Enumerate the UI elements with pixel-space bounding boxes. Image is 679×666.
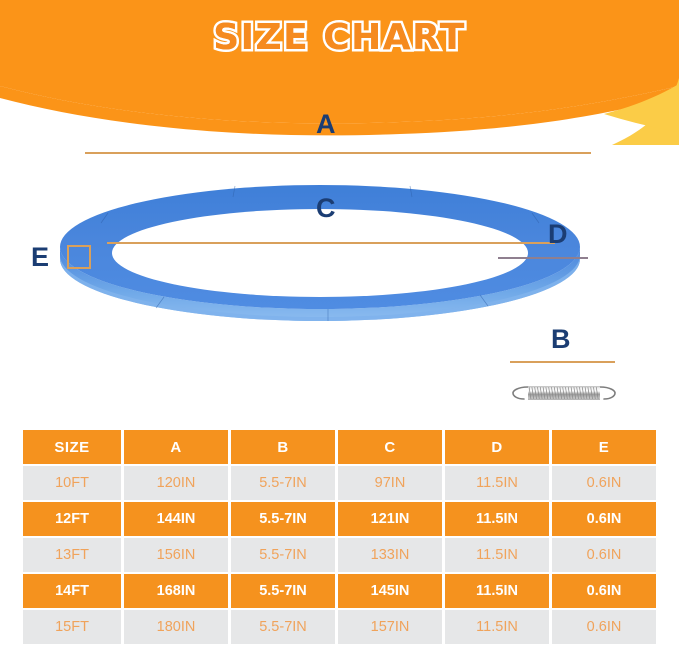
size-chart-table: SIZE A B C D E 10FT 120IN 5.5-7IN 97IN 1…	[20, 428, 659, 646]
cell-a: 144IN	[124, 502, 228, 536]
cell-d: 11.5IN	[445, 502, 549, 536]
cell-b: 5.5-7IN	[231, 466, 335, 500]
cell-d: 11.5IN	[445, 466, 549, 500]
spring-icon	[508, 378, 620, 408]
cell-d: 11.5IN	[445, 610, 549, 644]
cell-d: 11.5IN	[445, 574, 549, 608]
dimension-label-c: C	[316, 193, 336, 224]
dimension-bracket-e-stem	[67, 245, 69, 269]
table-header-c: C	[338, 430, 442, 464]
cell-e: 0.6IN	[552, 502, 656, 536]
cell-size: 12FT	[23, 502, 121, 536]
dimension-label-d: D	[548, 219, 568, 250]
cell-size: 13FT	[23, 538, 121, 572]
table-row: 14FT 168IN 5.5-7IN 145IN 11.5IN 0.6IN	[23, 574, 656, 608]
dimension-line-a	[85, 152, 591, 154]
cell-a: 168IN	[124, 574, 228, 608]
cell-e: 0.6IN	[552, 574, 656, 608]
table-header-a: A	[124, 430, 228, 464]
table-header-row: SIZE A B C D E	[23, 430, 656, 464]
cell-b: 5.5-7IN	[231, 610, 335, 644]
cell-e: 0.6IN	[552, 466, 656, 500]
dimension-label-a: A	[316, 109, 336, 140]
cell-c: 133IN	[338, 538, 442, 572]
size-chart-page: SIZE CHART SIZE CHART	[0, 0, 679, 666]
table-header-e: E	[552, 430, 656, 464]
table-row: 10FT 120IN 5.5-7IN 97IN 11.5IN 0.6IN	[23, 466, 656, 500]
cell-b: 5.5-7IN	[231, 574, 335, 608]
table-row: 15FT 180IN 5.5-7IN 157IN 11.5IN 0.6IN	[23, 610, 656, 644]
dimension-label-e: E	[31, 242, 49, 273]
cell-a: 180IN	[124, 610, 228, 644]
cell-c: 97IN	[338, 466, 442, 500]
dimension-bracket-e	[67, 245, 91, 269]
table-header-b: B	[231, 430, 335, 464]
dimension-line-b	[510, 361, 615, 363]
table-header-d: D	[445, 430, 549, 464]
cell-size: 10FT	[23, 466, 121, 500]
table-row: 13FT 156IN 5.5-7IN 133IN 11.5IN 0.6IN	[23, 538, 656, 572]
table-header-size: SIZE	[23, 430, 121, 464]
cell-size: 14FT	[23, 574, 121, 608]
dimension-line-d	[498, 257, 588, 259]
cell-c: 121IN	[338, 502, 442, 536]
cell-c: 157IN	[338, 610, 442, 644]
cell-d: 11.5IN	[445, 538, 549, 572]
cell-size: 15FT	[23, 610, 121, 644]
cell-c: 145IN	[338, 574, 442, 608]
cell-b: 5.5-7IN	[231, 502, 335, 536]
cell-a: 120IN	[124, 466, 228, 500]
trampoline-diagram: A C D E B	[0, 95, 679, 425]
table-row: 12FT 144IN 5.5-7IN 121IN 11.5IN 0.6IN	[23, 502, 656, 536]
cell-e: 0.6IN	[552, 610, 656, 644]
cell-a: 156IN	[124, 538, 228, 572]
cell-b: 5.5-7IN	[231, 538, 335, 572]
page-title: SIZE CHART	[0, 17, 679, 58]
dimension-line-c	[107, 242, 555, 244]
cell-e: 0.6IN	[552, 538, 656, 572]
dimension-label-b: B	[551, 324, 571, 355]
